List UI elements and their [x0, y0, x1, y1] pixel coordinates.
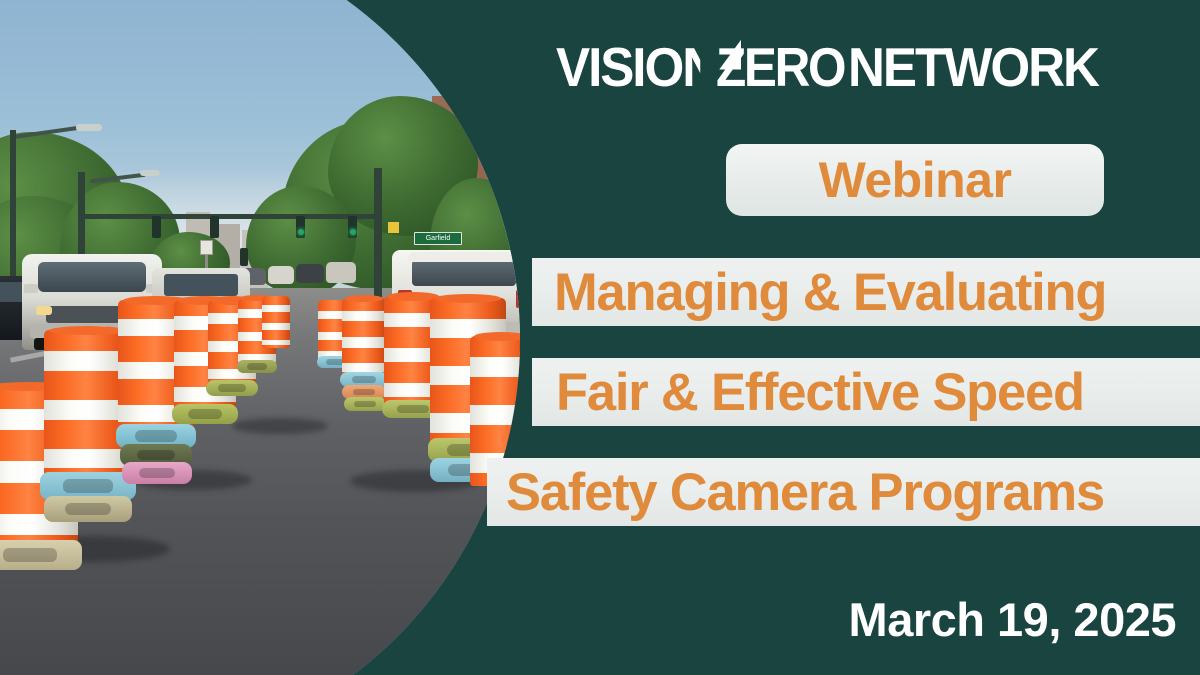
webinar-promo-poster: Garfield [0, 0, 1200, 675]
barrel-ballast-tire [237, 360, 277, 373]
title-band-line-2: Fair & Effective Speed [532, 358, 1200, 426]
roadside-sign [200, 240, 213, 255]
traffic-barrel [342, 298, 386, 378]
webinar-badge-label: Webinar [819, 155, 1012, 205]
signal-mast-arm [80, 214, 380, 219]
title-line-2-text: Fair & Effective Speed [556, 366, 1084, 419]
roadside-sign-yellow [388, 222, 399, 233]
title-line-3-text: Safety Camera Programs [506, 466, 1104, 519]
distant-vehicle [296, 264, 324, 283]
pickup-cab-roof [408, 252, 520, 262]
webinar-badge: Webinar [726, 144, 1104, 216]
barrel-ballast-tire [122, 462, 192, 484]
barrel-ballast-tire [0, 540, 82, 570]
title-line-1-text: Managing & Evaluating [554, 266, 1106, 319]
title-band-line-1: Managing & Evaluating [532, 258, 1200, 326]
street-construction-photo: Garfield [0, 0, 520, 675]
logo-vision-text: VISION [556, 40, 717, 95]
barrel-ballast-tire [206, 380, 258, 396]
webinar-date: March 19, 2025 [849, 596, 1176, 643]
barrel-ballast-tire [172, 404, 238, 424]
van-mirror [24, 284, 38, 293]
street-name-sign: Garfield [414, 232, 462, 245]
traffic-barrel [262, 296, 290, 348]
distant-vehicle [268, 266, 294, 284]
traffic-signal [240, 248, 248, 266]
traffic-signal [210, 216, 219, 238]
streetlight-head [76, 124, 102, 131]
logo-network-text: NETWORK [848, 40, 1098, 95]
logo-zero-group: ZERO [716, 40, 858, 95]
vision-zero-network-logo[interactable]: VISION ZERO NETWORK [556, 36, 1116, 98]
traffic-signal [296, 216, 305, 238]
logo-zero-text: ZERO [716, 40, 844, 95]
signal-green-lamp [350, 229, 356, 235]
barrel-ballast-tire [44, 496, 132, 522]
traffic-signal [348, 216, 357, 238]
distant-vehicle [326, 262, 356, 283]
streetlight-pole [10, 130, 16, 300]
traffic-signal [152, 216, 161, 238]
barrel-ballast-tire [344, 397, 386, 411]
pickup-taillight [516, 290, 520, 308]
photo-circle-mask: Garfield [0, 0, 520, 675]
barrel-shadow [232, 418, 328, 434]
signal-green-lamp [298, 229, 304, 235]
signal-pole [374, 168, 382, 300]
streetlight-head [140, 170, 160, 176]
title-band-line-3: Safety Camera Programs [487, 458, 1200, 526]
